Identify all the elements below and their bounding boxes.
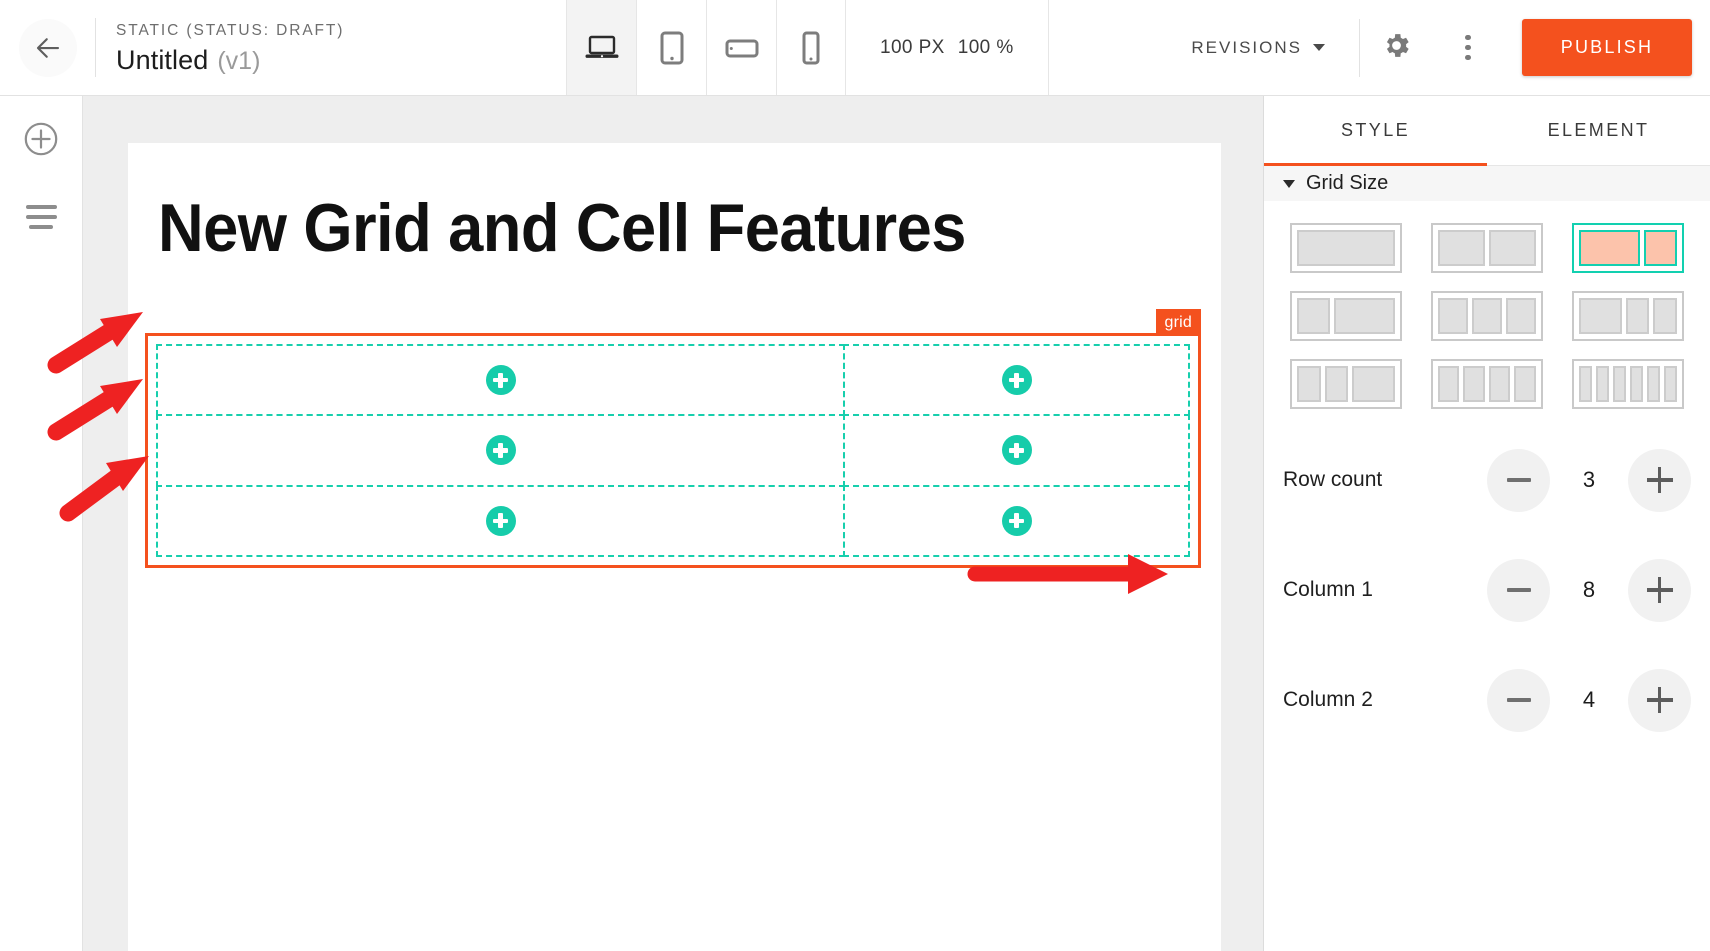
grid-cell[interactable] bbox=[156, 344, 845, 416]
column-2-value: 4 bbox=[1550, 687, 1628, 713]
more-options-button[interactable] bbox=[1432, 0, 1504, 96]
row-count-decrement-button[interactable] bbox=[1487, 449, 1550, 512]
phone-icon bbox=[800, 31, 822, 65]
chevron-down-icon bbox=[1313, 44, 1325, 51]
preset-layout-1[interactable] bbox=[1290, 223, 1402, 273]
preset-segment bbox=[1472, 298, 1502, 334]
canvas-heading[interactable]: New Grid and Cell Features bbox=[158, 194, 1116, 262]
kebab-menu-icon bbox=[1465, 35, 1471, 61]
preset-segment bbox=[1596, 366, 1609, 402]
plus-circle-icon bbox=[22, 120, 60, 163]
add-element-icon[interactable] bbox=[486, 435, 516, 465]
section-header-grid-size[interactable]: Grid Size bbox=[1264, 166, 1710, 201]
grid-row bbox=[157, 486, 1189, 556]
sidebar-item-outline[interactable] bbox=[18, 194, 64, 240]
stepper-label: Column 2 bbox=[1283, 688, 1487, 712]
preset-segment bbox=[1613, 366, 1626, 402]
laptop-icon bbox=[584, 33, 620, 63]
preset-segment bbox=[1325, 366, 1349, 402]
back-button-wrap bbox=[0, 0, 95, 95]
preset-layout-9[interactable] bbox=[1572, 359, 1684, 409]
preset-layout-5[interactable] bbox=[1431, 291, 1543, 341]
grid-row bbox=[157, 415, 1189, 485]
column-1-increment-button[interactable] bbox=[1628, 559, 1691, 622]
add-element-icon[interactable] bbox=[486, 365, 516, 395]
grid-rows bbox=[157, 345, 1189, 556]
revisions-dropdown[interactable]: REVISIONS bbox=[1157, 38, 1359, 58]
preset-segment bbox=[1297, 230, 1395, 266]
minus-icon bbox=[1507, 478, 1531, 482]
preset-segment bbox=[1630, 366, 1643, 402]
revisions-label: REVISIONS bbox=[1191, 38, 1302, 58]
add-element-icon[interactable] bbox=[1002, 506, 1032, 536]
device-mobile-button[interactable] bbox=[776, 0, 846, 95]
row-count-increment-button[interactable] bbox=[1628, 449, 1691, 512]
document-title-block: STATIC (STATUS: DRAFT) Untitled (v1) bbox=[96, 0, 566, 95]
top-toolbar: STATIC (STATUS: DRAFT) Untitled (v1) bbox=[0, 0, 1710, 96]
preset-layout-3[interactable] bbox=[1572, 223, 1684, 273]
settings-button[interactable] bbox=[1360, 0, 1432, 96]
stepper-column-2: Column 2 4 bbox=[1264, 645, 1710, 755]
document-status-label: STATIC (STATUS: DRAFT) bbox=[116, 19, 566, 42]
gear-icon bbox=[1381, 30, 1412, 66]
list-lines-icon bbox=[26, 205, 57, 229]
left-sidebar bbox=[0, 96, 83, 951]
grid-cell[interactable] bbox=[843, 485, 1190, 557]
preset-layout-8[interactable] bbox=[1431, 359, 1543, 409]
preset-segment bbox=[1644, 230, 1677, 266]
preset-segment bbox=[1438, 230, 1485, 266]
preset-segment bbox=[1664, 366, 1677, 402]
add-element-icon[interactable] bbox=[1002, 435, 1032, 465]
panel-tabs: STYLE ELEMENT bbox=[1264, 96, 1710, 166]
preset-segment bbox=[1647, 366, 1660, 402]
stepper-label: Row count bbox=[1283, 468, 1487, 492]
stepper-row-count: Row count 3 bbox=[1264, 425, 1710, 535]
grid-cell[interactable] bbox=[843, 344, 1190, 416]
app-root: STATIC (STATUS: DRAFT) Untitled (v1) bbox=[0, 0, 1710, 951]
zoom-percent-value[interactable]: 100 % bbox=[958, 37, 1014, 59]
plus-icon bbox=[1647, 577, 1673, 603]
grid-cell[interactable] bbox=[156, 414, 845, 486]
stepper-label: Column 1 bbox=[1283, 578, 1487, 602]
back-button[interactable] bbox=[19, 19, 77, 77]
sidebar-item-add-element[interactable] bbox=[18, 118, 64, 164]
preset-segment bbox=[1506, 298, 1536, 334]
preset-segment bbox=[1489, 366, 1511, 402]
grid-cell[interactable] bbox=[156, 485, 845, 557]
editor-canvas: New Grid and Cell Features grid bbox=[83, 96, 1263, 951]
device-preview-switcher bbox=[566, 0, 846, 95]
minus-icon bbox=[1507, 588, 1531, 592]
preset-segment bbox=[1334, 298, 1395, 334]
preset-segment bbox=[1579, 366, 1592, 402]
preset-segment bbox=[1438, 298, 1468, 334]
preset-layout-6[interactable] bbox=[1572, 291, 1684, 341]
tab-style[interactable]: STYLE bbox=[1264, 96, 1487, 165]
column-2-increment-button[interactable] bbox=[1628, 669, 1691, 732]
column-1-value: 8 bbox=[1550, 577, 1628, 603]
column-2-decrement-button[interactable] bbox=[1487, 669, 1550, 732]
preset-segment bbox=[1653, 298, 1677, 334]
preset-segment bbox=[1489, 230, 1536, 266]
page-title[interactable]: Untitled bbox=[116, 45, 208, 76]
arrow-left-icon bbox=[33, 33, 63, 63]
grid-selection-badge: grid bbox=[1156, 309, 1201, 336]
preset-segment bbox=[1514, 366, 1536, 402]
preset-layout-4[interactable] bbox=[1290, 291, 1402, 341]
preset-segment bbox=[1579, 298, 1622, 334]
document-title-line: Untitled (v1) bbox=[116, 45, 566, 76]
tab-element[interactable]: ELEMENT bbox=[1487, 96, 1710, 165]
page-sheet: New Grid and Cell Features grid bbox=[128, 143, 1221, 951]
device-tablet-landscape-button[interactable] bbox=[706, 0, 776, 95]
add-element-icon[interactable] bbox=[1002, 365, 1032, 395]
section-title: Grid Size bbox=[1306, 172, 1388, 195]
tablet-portrait-icon bbox=[658, 31, 686, 65]
grid-widget-selected[interactable]: grid bbox=[145, 333, 1201, 568]
plus-icon bbox=[1647, 467, 1673, 493]
minus-icon bbox=[1507, 698, 1531, 702]
add-element-icon[interactable] bbox=[486, 506, 516, 536]
preset-layout-2[interactable] bbox=[1431, 223, 1543, 273]
plus-icon bbox=[1647, 687, 1673, 713]
grid-layout-presets bbox=[1264, 201, 1710, 425]
preset-segment bbox=[1297, 366, 1321, 402]
device-desktop-button[interactable] bbox=[566, 0, 636, 95]
preset-segment bbox=[1463, 366, 1485, 402]
preset-segment bbox=[1297, 298, 1330, 334]
preset-segment bbox=[1352, 366, 1395, 402]
top-toolbar-right: REVISIONS PUBLISH bbox=[1049, 0, 1710, 95]
row-count-value: 3 bbox=[1550, 467, 1628, 493]
properties-panel: STYLE ELEMENT Grid Size bbox=[1263, 96, 1710, 951]
publish-button[interactable]: PUBLISH bbox=[1522, 19, 1692, 76]
preset-segment bbox=[1579, 230, 1640, 266]
column-1-decrement-button[interactable] bbox=[1487, 559, 1550, 622]
grid-row bbox=[157, 345, 1189, 415]
preset-segment bbox=[1438, 366, 1460, 402]
preset-layout-7[interactable] bbox=[1290, 359, 1402, 409]
device-tablet-portrait-button[interactable] bbox=[636, 0, 706, 95]
zoom-px-value[interactable]: 100 PX bbox=[880, 37, 945, 59]
tablet-landscape-icon bbox=[725, 35, 759, 61]
triangle-down-icon bbox=[1283, 180, 1295, 188]
zoom-controls[interactable]: 100 PX 100 % bbox=[846, 0, 1049, 95]
grid-cell[interactable] bbox=[843, 414, 1190, 486]
preset-segment bbox=[1626, 298, 1650, 334]
document-version: (v1) bbox=[217, 47, 260, 76]
stepper-column-1: Column 1 8 bbox=[1264, 535, 1710, 645]
